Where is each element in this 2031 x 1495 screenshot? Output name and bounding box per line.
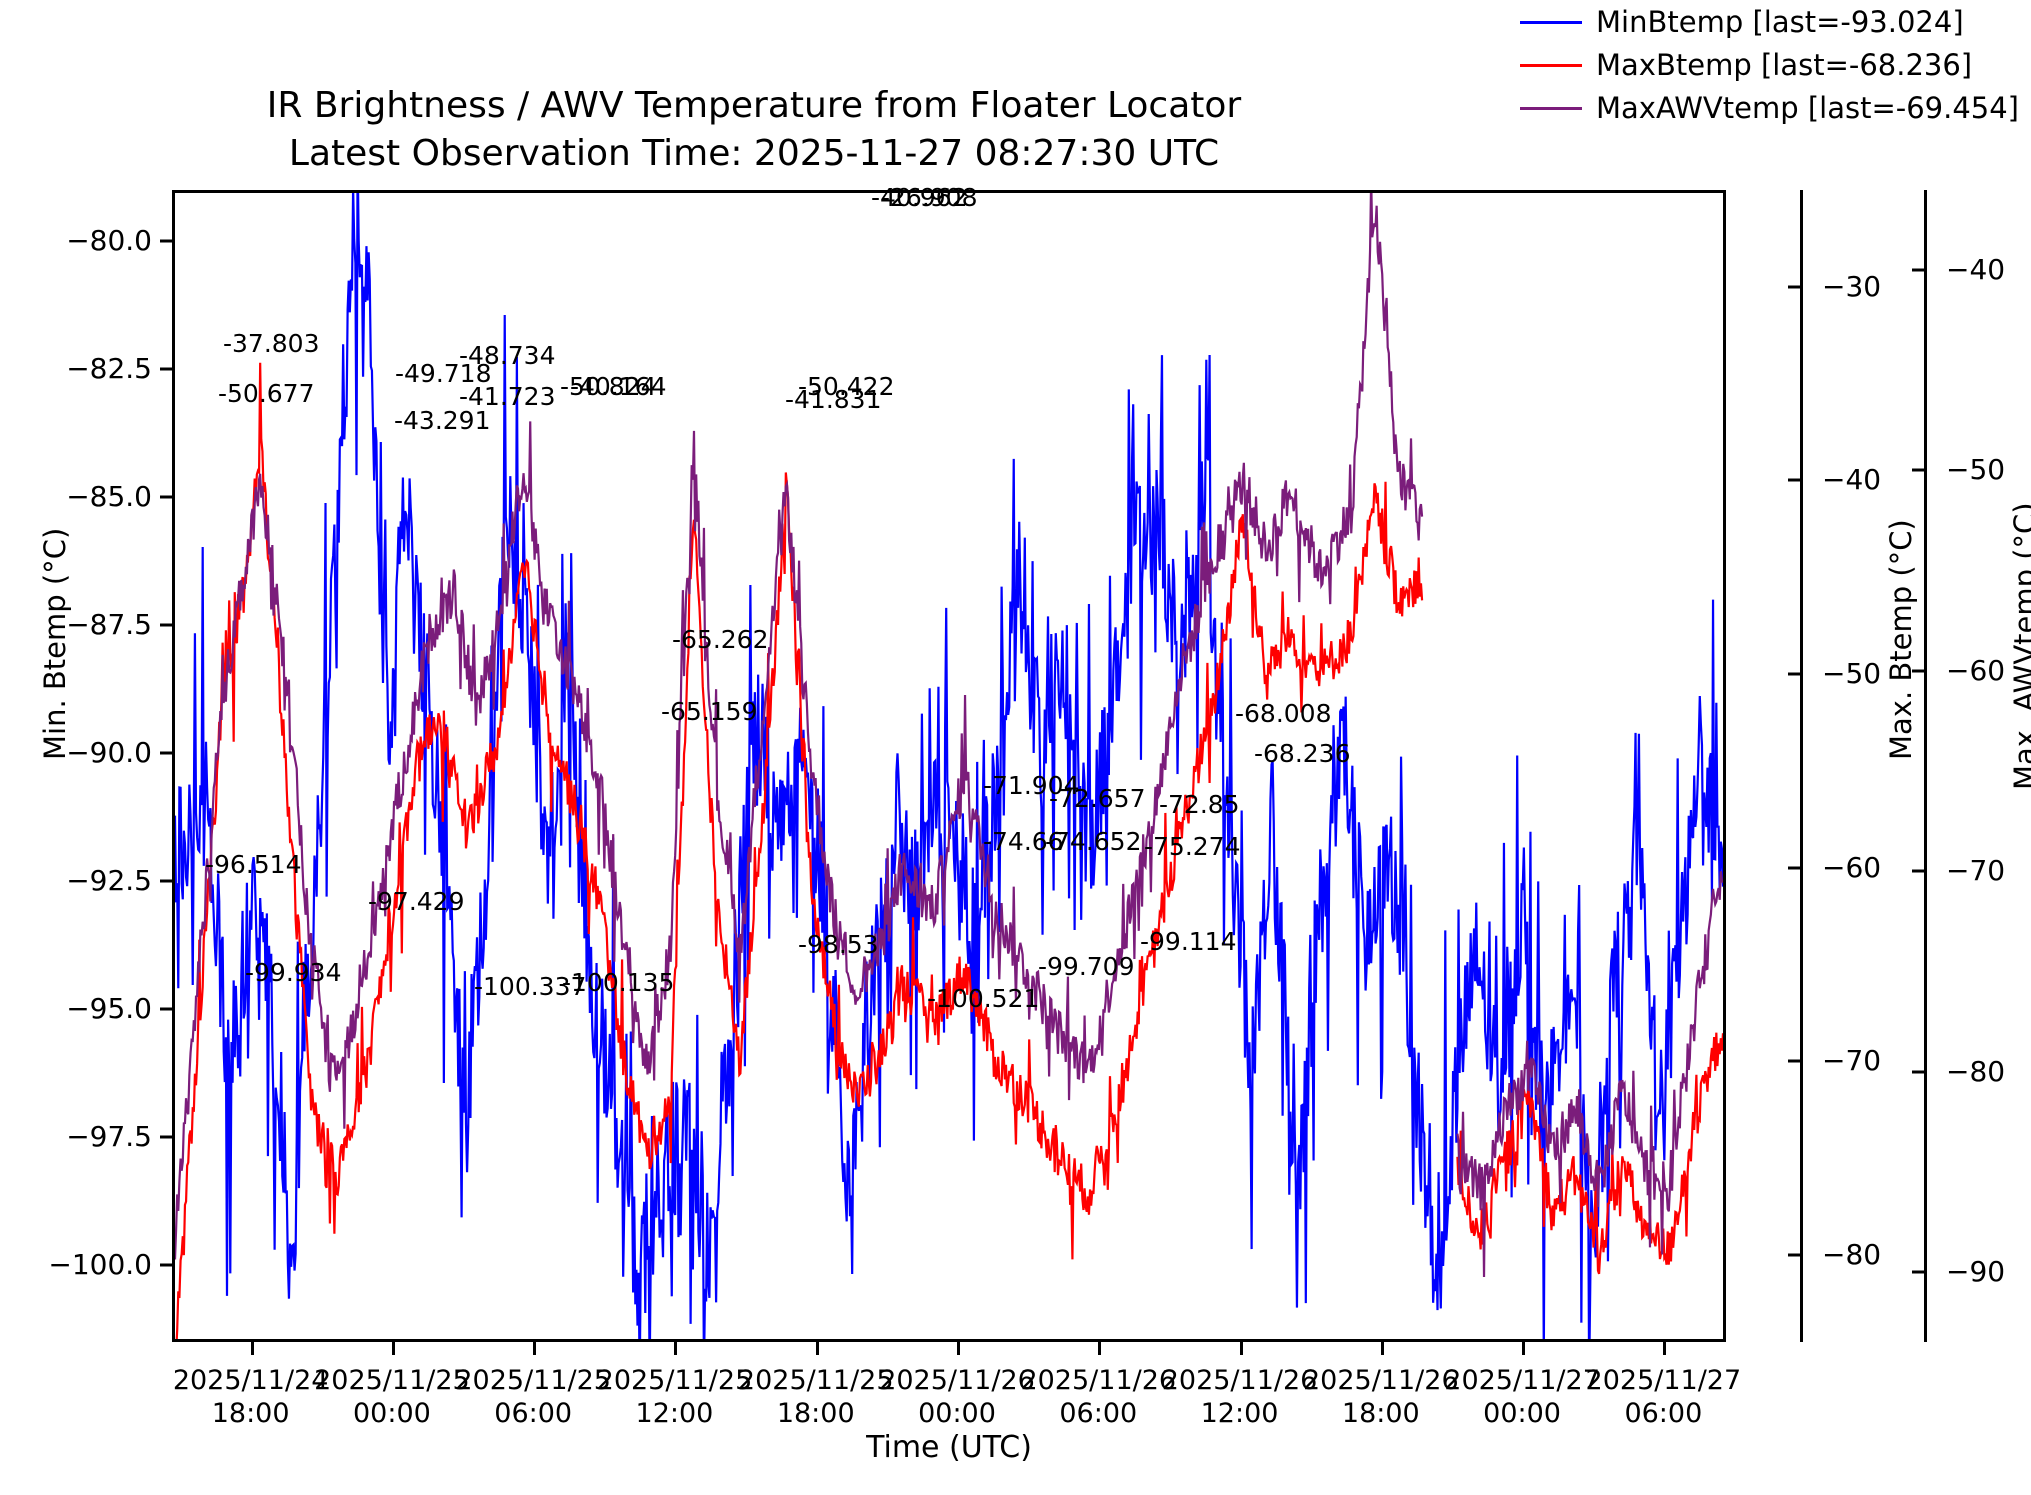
y-tick-mark (1912, 1270, 1924, 1273)
x-tick-label: 2025/11/2612:00 (1162, 1364, 1318, 1430)
x-tick-date: 2025/11/26 (1303, 1365, 1459, 1396)
y-tick-label: −97.5 (2, 1123, 152, 1151)
data-point-annotation: -75.274 (1144, 834, 1241, 859)
y-tick-mark (1912, 870, 1924, 873)
data-point-annotation: -65.262 (672, 627, 769, 652)
y-tick-mark (160, 1136, 172, 1139)
y-tick-mark (1788, 1253, 1800, 1256)
data-point-annotation: -41.831 (785, 387, 882, 412)
legend-swatch-maxbtemp (1520, 64, 1582, 67)
x-tick-date: 2025/11/27 (1586, 1365, 1742, 1396)
y-tick-mark (1912, 469, 1924, 472)
x-tick-time: 18:00 (1342, 1398, 1420, 1429)
x-tick-time: 12:00 (636, 1398, 714, 1429)
legend-label-minbtemp: MinBtemp [last=-93.024] (1596, 8, 1964, 37)
x-tick-mark (957, 1342, 960, 1355)
y-tick-mark (160, 752, 172, 755)
x-axis-title: Time (UTC) (172, 1430, 1726, 1465)
y-tick-mark (160, 240, 172, 243)
data-point-annotation: -72.657 (1049, 786, 1146, 811)
x-tick-label: 2025/11/2606:00 (1020, 1364, 1176, 1430)
x-tick-mark (816, 1342, 819, 1355)
data-point-annotation: -96.514 (205, 852, 302, 877)
y-tick-mark (1788, 866, 1800, 869)
data-point-annotation: -72.85 (1159, 792, 1240, 817)
y-tick-label: −70 (1946, 857, 2031, 885)
y-tick-label: −92.5 (2, 867, 152, 895)
x-tick-label: 2025/11/2518:00 (738, 1364, 894, 1430)
legend-item-minbtemp[interactable]: MinBtemp [last=-93.024] (1520, 8, 2019, 37)
x-tick-label: 2025/11/2512:00 (597, 1364, 753, 1430)
y-tick-mark (1788, 479, 1800, 482)
x-tick-mark (251, 1342, 254, 1355)
data-point-annotation: -37.803 (223, 331, 320, 356)
y-tick-label: −90 (1946, 1258, 2031, 1286)
y-tick-label: −100.0 (2, 1251, 152, 1279)
x-tick-mark (674, 1342, 677, 1355)
x-tick-time: 06:00 (1624, 1398, 1702, 1429)
y-axis-left-title: Min. Btemp (°C) (38, 528, 72, 760)
x-tick-mark (1381, 1342, 1384, 1355)
data-point-annotation: -74.652 (1045, 829, 1142, 854)
y-tick-mark (160, 880, 172, 883)
data-point-annotation: -99.709 (1038, 954, 1135, 979)
data-point-annotation: -43.291 (394, 408, 491, 433)
y-tick-label: −40 (1946, 256, 2031, 284)
x-tick-time: 00:00 (918, 1398, 996, 1429)
y-tick-label: −85.0 (2, 483, 152, 511)
legend-label-maxbtemp: MaxBtemp [last=-68.236] (1596, 51, 1972, 80)
legend-item-maxawvtemp[interactable]: MaxAWVtemp [last=-69.454] (1520, 94, 2019, 123)
data-point-annotation: -98.53 (798, 932, 879, 957)
legend-swatch-maxawvtemp (1520, 107, 1582, 110)
series-line-maxawvtemp (175, 193, 1723, 1277)
y-tick-label: −60 (1822, 854, 1932, 882)
chart-subtitle: Latest Observation Time: 2025-11-27 08:2… (170, 130, 1338, 178)
x-tick-mark (1522, 1342, 1525, 1355)
x-tick-date: 2025/11/25 (738, 1365, 894, 1396)
y-tick-label: −82.5 (2, 355, 152, 383)
x-tick-mark (1663, 1342, 1666, 1355)
data-point-annotation: -50.677 (218, 381, 315, 406)
data-point-annotation: -100.135 (562, 970, 674, 995)
x-tick-time: 12:00 (1201, 1398, 1279, 1429)
x-tick-mark (1098, 1342, 1101, 1355)
y-tick-mark (160, 368, 172, 371)
data-point-annotation: -65.159 (661, 699, 758, 724)
plot-area: -96.514-37.803-50.677-99.934-97.429-49.7… (172, 190, 1726, 1342)
x-tick-time: 18:00 (212, 1398, 290, 1429)
x-tick-time: 06:00 (1059, 1398, 1137, 1429)
y-tick-mark (1788, 285, 1800, 288)
y-tick-label: −87.5 (2, 611, 152, 639)
x-tick-mark (533, 1342, 536, 1355)
y-tick-label: −95.0 (2, 995, 152, 1023)
y-tick-mark (1912, 1070, 1924, 1073)
y-tick-mark (1912, 269, 1924, 272)
y-tick-mark (160, 1264, 172, 1267)
chart-title-block: IR Brightness / AWV Temperature from Flo… (170, 82, 1338, 178)
chart-legend: MinBtemp [last=-93.024] MaxBtemp [last=-… (1520, 8, 2019, 123)
x-tick-date: 2025/11/25 (455, 1365, 611, 1396)
x-tick-label: 2025/11/2500:00 (314, 1364, 470, 1430)
x-tick-date: 2025/11/26 (879, 1365, 1035, 1396)
y-tick-mark (160, 1008, 172, 1011)
y-tick-label: −90.0 (2, 739, 152, 767)
y-axis-right1-title: Max. Btemp (°C) (1884, 519, 1918, 760)
x-tick-date: 2025/11/26 (1020, 1365, 1176, 1396)
data-point-annotation: -97.429 (368, 889, 465, 914)
y-tick-mark (1788, 673, 1800, 676)
data-point-annotation: -99.934 (245, 960, 342, 985)
x-tick-time: 00:00 (1483, 1398, 1561, 1429)
x-tick-date: 2025/11/24 (173, 1365, 329, 1396)
data-point-annotation: -26.908 (881, 185, 978, 210)
y-tick-mark (160, 624, 172, 627)
x-tick-label: 2025/11/2600:00 (879, 1364, 1035, 1430)
data-point-annotation: -48.734 (459, 343, 556, 368)
legend-label-maxawvtemp: MaxAWVtemp [last=-69.454] (1596, 94, 2019, 123)
y-tick-label: −80 (1946, 1058, 2031, 1086)
data-point-annotation: -40.164 (570, 374, 667, 399)
x-tick-time: 06:00 (494, 1398, 572, 1429)
data-point-annotation: -100.521 (927, 986, 1039, 1011)
y-tick-mark (160, 496, 172, 499)
x-tick-time: 00:00 (353, 1398, 431, 1429)
y-tick-label: −50 (1946, 456, 2031, 484)
x-tick-label: 2025/11/2706:00 (1586, 1364, 1742, 1430)
x-tick-label: 2025/11/2700:00 (1444, 1364, 1600, 1430)
chart-figure: MinBtemp [last=-93.024] MaxBtemp [last=-… (0, 0, 2031, 1495)
data-point-annotation: -68.236 (1254, 741, 1351, 766)
x-tick-date: 2025/11/26 (1162, 1365, 1318, 1396)
x-tick-date: 2025/11/27 (1444, 1365, 1600, 1396)
x-tick-time: 18:00 (777, 1398, 855, 1429)
axis-spine (1800, 190, 1803, 1342)
x-tick-date: 2025/11/25 (597, 1365, 753, 1396)
y-axis-right2-title: Max. AWVtemp (°C) (2008, 502, 2031, 790)
y-tick-label: −80.0 (2, 227, 152, 255)
axis-spine (1924, 190, 1927, 1342)
x-tick-label: 2025/11/2418:00 (173, 1364, 329, 1430)
page-title: IR Brightness / AWV Temperature from Flo… (170, 82, 1338, 130)
data-point-annotation: -99.114 (1140, 929, 1237, 954)
legend-item-maxbtemp[interactable]: MaxBtemp [last=-68.236] (1520, 51, 2019, 80)
x-tick-mark (392, 1342, 395, 1355)
x-tick-label: 2025/11/2506:00 (455, 1364, 611, 1430)
y-tick-label: −30 (1822, 273, 1932, 301)
data-point-annotation: -68.008 (1235, 701, 1332, 726)
y-tick-mark (1788, 1060, 1800, 1063)
x-tick-label: 2025/11/2618:00 (1303, 1364, 1459, 1430)
x-tick-date: 2025/11/25 (314, 1365, 470, 1396)
x-tick-mark (1240, 1342, 1243, 1355)
legend-swatch-minbtemp (1520, 21, 1582, 24)
y-tick-label: −80 (1822, 1241, 1932, 1269)
data-point-annotation: -41.723 (459, 384, 556, 409)
